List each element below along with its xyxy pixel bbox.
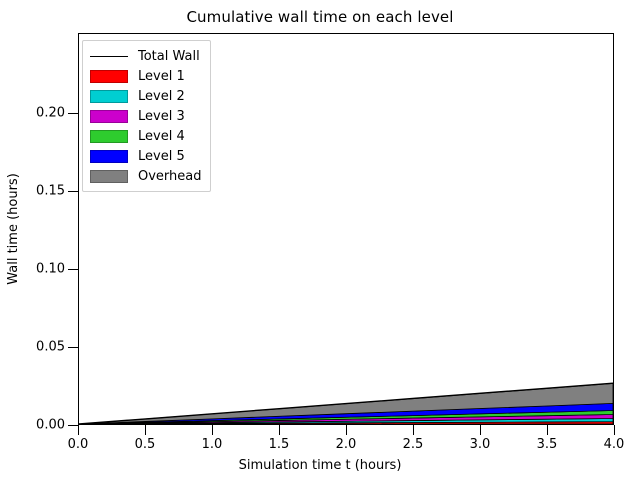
legend-swatch-icon xyxy=(90,130,128,143)
legend-item[interactable]: Overhead xyxy=(90,166,202,186)
legend-label: Level 4 xyxy=(138,129,185,144)
legend-label: Total Wall xyxy=(138,49,200,64)
legend-item[interactable]: Level 5 xyxy=(90,146,202,166)
legend-item[interactable]: Level 2 xyxy=(90,86,202,106)
x-tick-label: 0.0 xyxy=(68,437,89,452)
x-tick-label: 0.5 xyxy=(135,437,156,452)
legend-swatch-icon xyxy=(90,150,128,163)
x-tick-label: 2.0 xyxy=(336,437,357,452)
x-tick-mark xyxy=(614,425,615,435)
legend-item[interactable]: Level 3 xyxy=(90,106,202,126)
x-tick-label: 2.5 xyxy=(403,437,424,452)
chart-figure: Cumulative wall time on each level Wall … xyxy=(0,0,640,480)
legend-swatch-icon xyxy=(90,50,128,63)
x-axis-label: Simulation time t (hours) xyxy=(0,458,640,473)
y-tick-mark xyxy=(68,347,78,348)
legend-swatch-icon xyxy=(90,70,128,83)
legend-swatch-icon xyxy=(90,110,128,123)
y-axis-label: Wall time (hours) xyxy=(6,173,21,285)
legend-item[interactable]: Total Wall xyxy=(90,46,202,66)
x-tick-mark xyxy=(413,425,414,435)
chart-title: Cumulative wall time on each level xyxy=(0,8,640,26)
x-tick-label: 1.0 xyxy=(202,437,223,452)
x-axis: Simulation time t (hours) 0.00.51.01.52.… xyxy=(0,425,640,480)
x-tick-label: 4.0 xyxy=(604,437,625,452)
legend-item[interactable]: Level 4 xyxy=(90,126,202,146)
legend-item[interactable]: Level 1 xyxy=(90,66,202,86)
y-tick-mark xyxy=(68,269,78,270)
y-tick-label: 0.20 xyxy=(36,106,65,121)
y-tick-label: 0.05 xyxy=(36,340,65,355)
x-tick-mark xyxy=(346,425,347,435)
x-tick-mark xyxy=(212,425,213,435)
legend-label: Level 3 xyxy=(138,109,185,124)
x-tick-label: 1.5 xyxy=(269,437,290,452)
legend-label: Overhead xyxy=(138,169,202,184)
legend-label: Level 1 xyxy=(138,69,185,84)
legend-label: Level 5 xyxy=(138,149,185,164)
x-tick-mark xyxy=(480,425,481,435)
y-tick-mark xyxy=(68,113,78,114)
x-tick-mark xyxy=(145,425,146,435)
x-tick-mark xyxy=(279,425,280,435)
chart-legend: Total WallLevel 1Level 2Level 3Level 4Le… xyxy=(82,40,211,192)
y-tick-label: 0.10 xyxy=(36,262,65,277)
legend-swatch-icon xyxy=(90,90,128,103)
x-tick-label: 3.5 xyxy=(537,437,558,452)
y-tick-mark xyxy=(68,191,78,192)
y-tick-label: 0.15 xyxy=(36,184,65,199)
legend-swatch-icon xyxy=(90,170,128,183)
x-tick-mark xyxy=(78,425,79,435)
x-tick-mark xyxy=(547,425,548,435)
y-axis: Wall time (hours) 0.000.050.100.150.20 xyxy=(0,0,78,480)
x-tick-label: 3.0 xyxy=(470,437,491,452)
legend-label: Level 2 xyxy=(138,89,185,104)
